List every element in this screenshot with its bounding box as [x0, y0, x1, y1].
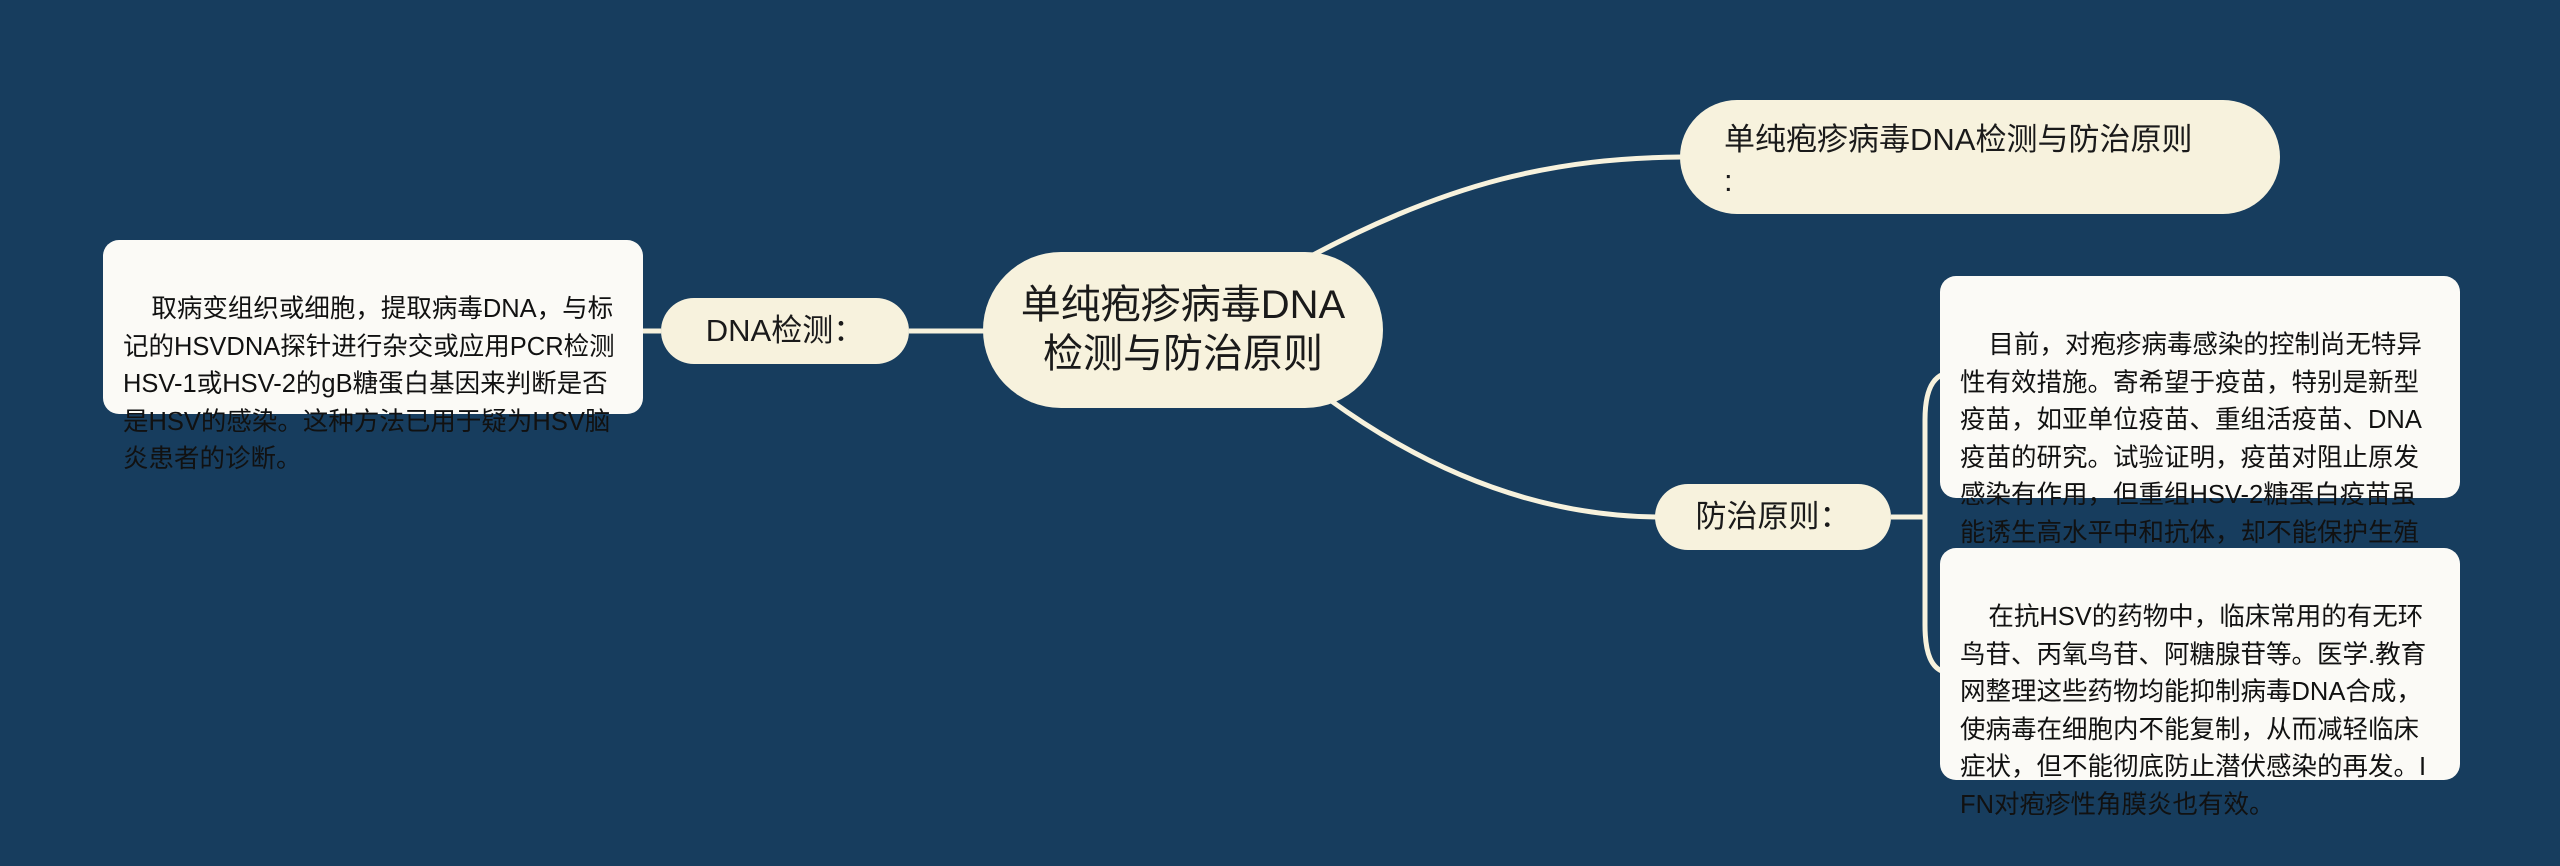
leaf-vaccine-text: 目前，对疱疹病毒感染的控制尚无特异性有效措施。寄希望于疫苗，特别是新型疫苗，如亚… — [1960, 331, 2422, 584]
connector-root-to-principle — [1330, 400, 1657, 517]
branch-node-dna-detection[interactable]: DNA检测： — [661, 298, 909, 364]
leaf-drug-therapy-text: 在抗HSV的药物中，临床常用的有无环鸟苷、丙氧鸟苷、阿糖腺苷等。医学.教育网整理… — [1960, 603, 2426, 818]
mindmap-canvas: 单纯疱疹病毒DNA检测与防治原则 DNA检测： 防治原则： 单纯疱疹病毒DNA检… — [0, 0, 2560, 866]
branch-node-principle[interactable]: 防治原则： — [1655, 484, 1891, 550]
leaf-dna-detection-text: 取病变组织或细胞，提取病毒DNA，与标记的HSVDNA探针进行杂交或应用PCR检… — [123, 295, 615, 473]
branch-node-topright-label: 单纯疱疹病毒DNA检测与防治原则 : — [1724, 122, 2192, 198]
root-node[interactable]: 单纯疱疹病毒DNA检测与防治原则 — [983, 252, 1383, 408]
leaf-dna-detection[interactable]: 取病变组织或细胞，提取病毒DNA，与标记的HSVDNA探针进行杂交或应用PCR检… — [103, 240, 643, 414]
leaf-drug-therapy[interactable]: 在抗HSV的药物中，临床常用的有无环鸟苷、丙氧鸟苷、阿糖腺苷等。医学.教育网整理… — [1940, 548, 2460, 780]
leaf-vaccine[interactable]: 目前，对疱疹病毒感染的控制尚无特异性有效措施。寄希望于疫苗，特别是新型疫苗，如亚… — [1940, 276, 2460, 498]
branch-node-principle-label: 防治原则： — [1696, 498, 1851, 536]
connector-root-to-topright — [1300, 157, 1682, 262]
root-node-label: 单纯疱疹病毒DNA检测与防治原则 — [1017, 281, 1349, 379]
branch-node-dna-detection-label: DNA检测： — [706, 312, 864, 350]
branch-node-topright[interactable]: 单纯疱疹病毒DNA检测与防治原则 : — [1680, 100, 2280, 214]
